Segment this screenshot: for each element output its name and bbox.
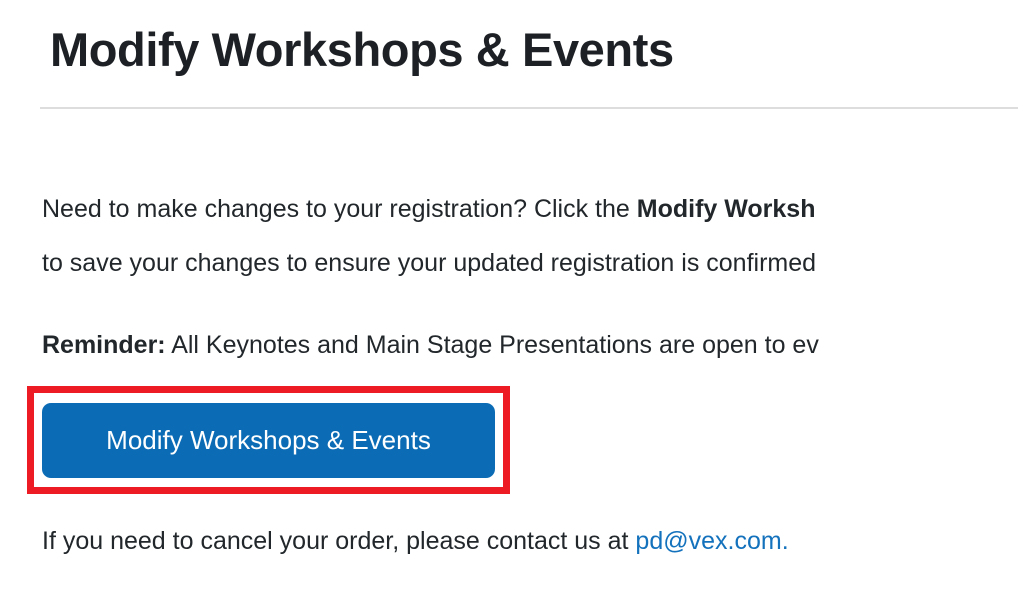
intro-line-1-bold: Modify Worksh [637,195,816,223]
page-title: Modify Workshops & Events [50,20,674,80]
cancel-order-period: . [782,527,789,555]
cancel-order-note: If you need to cancel your order, please… [42,519,1018,563]
page-root: Modify Workshops & Events Need to make c… [0,0,1018,604]
intro-line-2: to save your changes to ensure your upda… [42,236,1018,290]
reminder-label: Reminder: [42,331,166,359]
support-email-link[interactable]: pd@vex.com [635,527,781,555]
intro-line-1: Need to make changes to your registratio… [42,182,1018,236]
reminder-paragraph: Reminder: All Keynotes and Main Stage Pr… [42,322,1018,368]
cancel-order-text: If you need to cancel your order, please… [42,527,635,555]
intro-paragraph: Need to make changes to your registratio… [42,182,1018,290]
modify-workshops-events-button[interactable]: Modify Workshops & Events [42,403,495,478]
title-divider [40,107,1018,109]
intro-line-1-text: Need to make changes to your registratio… [42,195,637,223]
reminder-text: All Keynotes and Main Stage Presentation… [166,331,819,359]
